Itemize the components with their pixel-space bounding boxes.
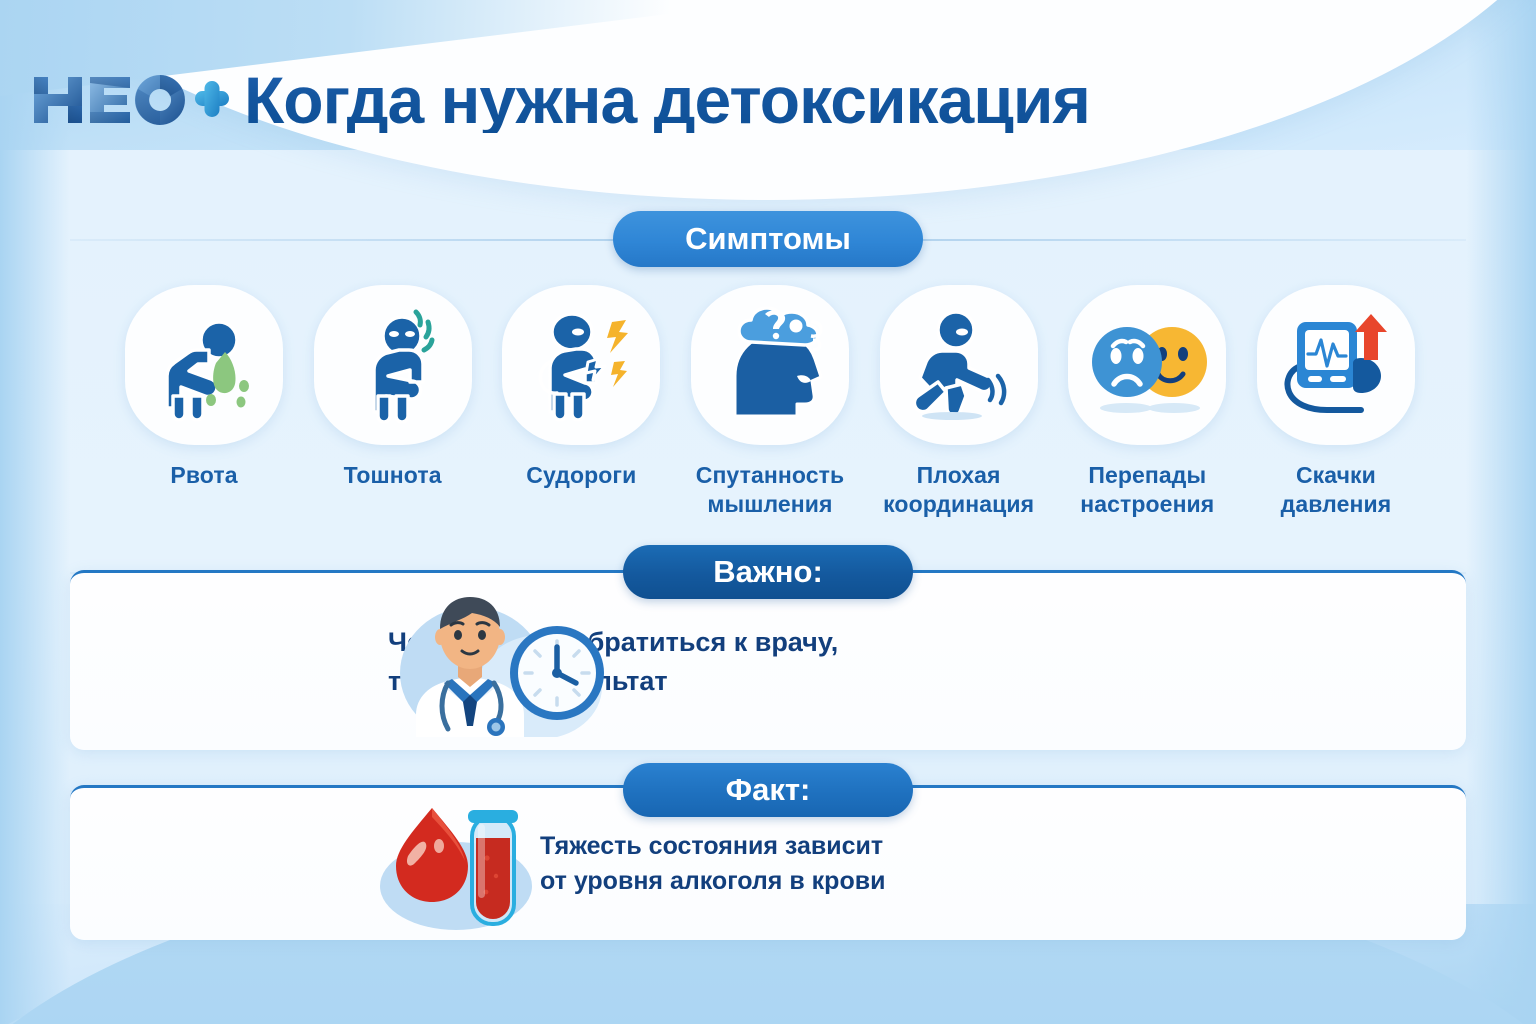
symptom-tile (125, 285, 283, 445)
blood-test-icon (360, 794, 560, 934)
sad-face (1092, 327, 1162, 397)
symptom-item[interactable]: Скачки давления (1252, 285, 1420, 519)
symptom-label: Тошнота (344, 461, 442, 490)
symptom-tile (1068, 285, 1226, 445)
doctor-clock-icon (370, 591, 620, 737)
symptom-item[interactable]: Рвота (120, 285, 288, 519)
neo-plus-logo (30, 71, 230, 129)
neo-plus-logo-icon (30, 71, 230, 129)
page-header: Когда нужна детоксикация (0, 0, 1536, 200)
doctor-with-clock-illustration (370, 591, 620, 737)
symptom-item[interactable]: Плохая координация (875, 285, 1043, 519)
symptom-tile (1257, 285, 1415, 445)
symptom-item[interactable]: Тошнота (309, 285, 477, 519)
symptom-tile (691, 285, 849, 445)
page-title: Когда нужна детоксикация (244, 67, 1090, 133)
mood-swings-icon (1082, 300, 1212, 430)
symptom-tile (502, 285, 660, 445)
symptom-label: Рвота (170, 461, 237, 490)
fact-line-2: от уровня алкоголя в крови (540, 864, 885, 900)
symptom-tile (880, 285, 1038, 445)
symptom-item[interactable]: Судороги (497, 285, 665, 519)
poor-balance-icon (894, 300, 1024, 430)
symptom-item[interactable]: Перепады настроения (1063, 285, 1231, 519)
confusion-head-icon (705, 300, 835, 430)
fact-text: Тяжесть состояния зависит от уровня алко… (540, 829, 885, 900)
important-badge: Важно: (623, 545, 913, 599)
symptoms-section-heading: Симптомы (70, 210, 1466, 268)
cramps-icon (516, 300, 646, 430)
symptom-label: Перепады настроения (1063, 461, 1231, 519)
symptoms-row: Рвота Тош (120, 285, 1420, 519)
fact-badge: Факт: (623, 763, 913, 817)
fact-line-1: Тяжесть состояния зависит (540, 829, 885, 865)
nausea-icon (328, 300, 458, 430)
symptom-label: Судороги (526, 461, 636, 490)
symptom-label: Скачки давления (1252, 461, 1420, 519)
symptom-tile (314, 285, 472, 445)
symptoms-badge: Симптомы (613, 211, 923, 267)
symptom-item[interactable]: Спутанность мышления (686, 285, 854, 519)
symptom-label: Плохая координация (875, 461, 1043, 519)
blood-pressure-icon (1271, 300, 1401, 430)
vomiting-icon (139, 300, 269, 430)
blood-drop-test-tube-illustration (360, 794, 560, 934)
symptom-label: Спутанность мышления (686, 461, 854, 519)
